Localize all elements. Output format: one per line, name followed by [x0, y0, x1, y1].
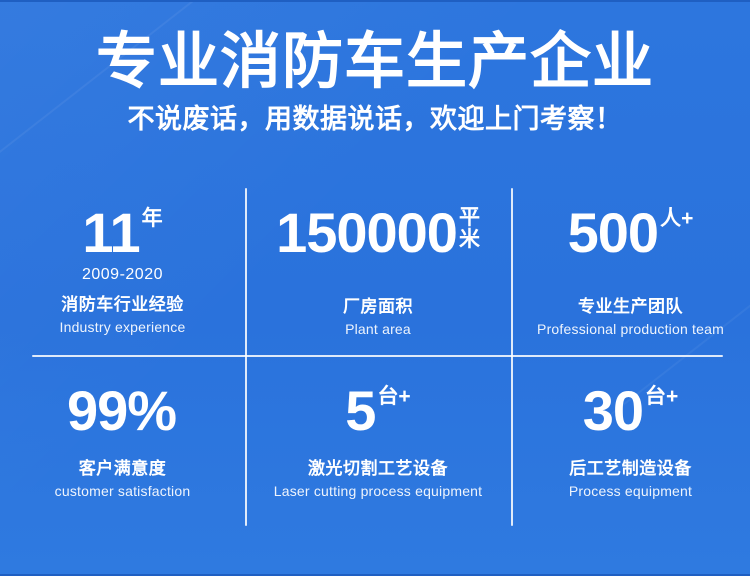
stat-unit: 年 [142, 208, 163, 230]
stat-label-en: Plant area [345, 321, 411, 337]
stat-label-cn: 厂房面积 [343, 292, 413, 317]
stat-unit: 人+ [660, 208, 693, 230]
banner-header: 专业消防车生产企业 不说废话，用数据说话，欢迎上门考察！ [0, 2, 750, 136]
stat-number: 150000 [276, 204, 457, 262]
stat-cell-production-team: 500 人+ 专业生产团队 Professional production te… [511, 188, 750, 356]
stat-label-cn: 后工艺制造设备 [569, 454, 692, 479]
stat-number-row: 30 台+ [583, 382, 679, 440]
stat-number: 11 [82, 204, 139, 262]
stat-unit: 平 米 [459, 207, 480, 251]
stat-unit-bottom: 米 [459, 229, 480, 251]
stat-unit: 台+ [645, 386, 678, 408]
stat-cell-customer-satisfaction: 99% 客户满意度 customer satisfaction [0, 356, 245, 528]
stat-number: 30 [583, 382, 643, 440]
stat-number: 5 [345, 382, 375, 440]
stat-number-row: 500 人+ [568, 204, 694, 262]
stat-number: 99% [67, 382, 176, 440]
stat-cell-industry-experience: 11 年 2009-2020 消防车行业经验 Industry experien… [0, 188, 245, 356]
stat-label-en: customer satisfaction [55, 483, 191, 499]
stat-cell-laser-cutting-equipment: 5 台+ 激光切割工艺设备 Laser cutting process equi… [245, 356, 511, 528]
stat-cell-process-equipment: 30 台+ 后工艺制造设备 Process equipment [511, 356, 750, 528]
stat-label-cn: 激光切割工艺设备 [308, 454, 448, 479]
stat-label-cn: 专业生产团队 [578, 292, 683, 317]
stat-label-cn: 客户满意度 [79, 454, 167, 479]
stat-unit: 台+ [377, 386, 410, 408]
stat-label-en: Process equipment [569, 483, 692, 499]
stat-number-row: 99% [67, 382, 178, 440]
stat-number: 500 [568, 204, 658, 262]
promo-banner: 专业消防车生产企业 不说废话，用数据说话，欢迎上门考察！ 11 年 2009-2… [0, 0, 750, 576]
stat-label-en: Professional production team [537, 321, 724, 337]
stat-number-row: 150000 平 米 [276, 204, 480, 262]
stat-label-en: Industry experience [60, 319, 186, 335]
stat-number-row: 11 年 [82, 204, 162, 262]
stat-label-en: Laser cutting process equipment [274, 483, 483, 499]
page-subtitle: 不说废话，用数据说话，欢迎上门考察！ [0, 102, 750, 136]
stat-cell-plant-area: 150000 平 米 厂房面积 Plant area [245, 188, 511, 356]
stats-grid: 11 年 2009-2020 消防车行业经验 Industry experien… [0, 188, 750, 528]
page-title: 专业消防车生产企业 [0, 26, 750, 96]
stat-label-cn: 消防车行业经验 [61, 290, 184, 315]
stat-number-row: 5 台+ [345, 382, 410, 440]
stat-unit-top: 平 [459, 207, 480, 229]
stat-sub-number: 2009-2020 [82, 266, 163, 284]
